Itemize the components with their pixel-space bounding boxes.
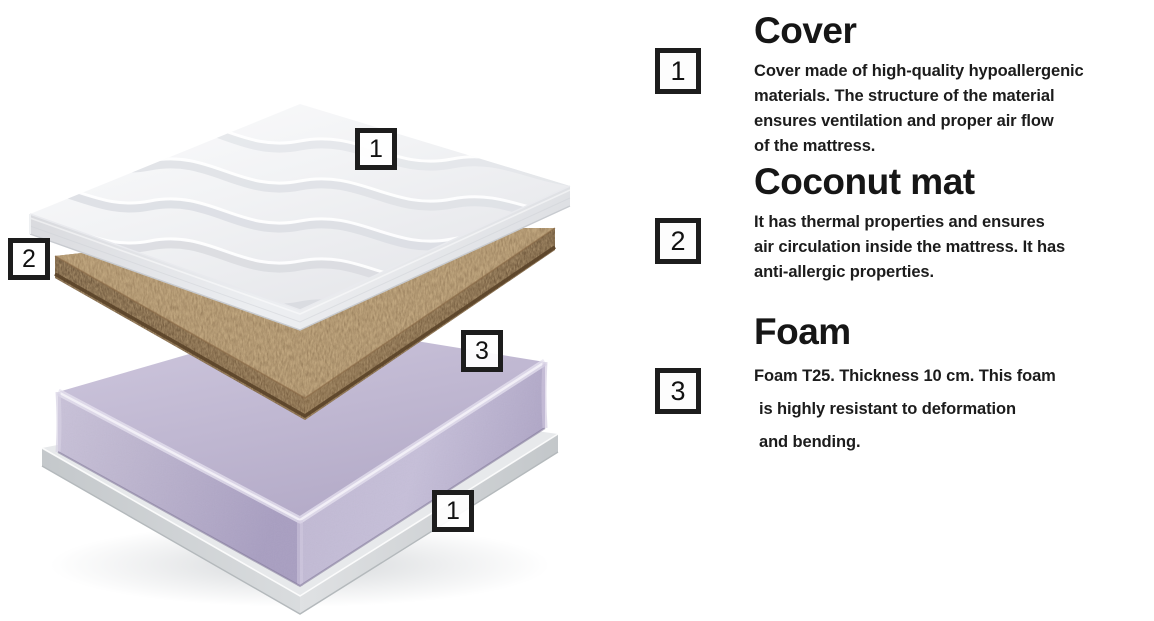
legend-desc-line: ensures ventilation and proper air flow [754, 109, 1146, 134]
mattress-layers-svg [0, 0, 640, 621]
legend-item-foam: 3 Foam Foam T25. Thickness 10 cm. This f… [655, 313, 1154, 459]
legend-description-cover: Cover made of high-quality hypoallergeni… [754, 59, 1146, 159]
legend-badge-2: 2 [655, 218, 701, 264]
legend-badge-1: 1 [655, 48, 701, 94]
legend-item-coconut-mat: 2 Coconut mat It has thermal properties … [655, 163, 1154, 285]
legend-title-cover: Cover [754, 12, 1146, 51]
legend-item-cover: 1 Cover Cover made of high-quality hypoa… [655, 12, 1154, 159]
layer-legend: 1 Cover Cover made of high-quality hypoa… [655, 0, 1154, 621]
legend-desc-line: It has thermal properties and ensures [754, 210, 1146, 235]
illustration-badge-foam: 3 [461, 330, 503, 372]
illustration-badge-cover: 1 [355, 128, 397, 170]
legend-desc-line: of the mattress. [754, 134, 1146, 159]
legend-desc-line: air circulation inside the mattress. It … [754, 235, 1146, 260]
legend-desc-line: anti-allergic properties. [754, 260, 1146, 285]
legend-title-foam: Foam [754, 313, 1146, 352]
legend-description-foam: Foam T25. Thickness 10 cm. This foam is … [754, 360, 1146, 459]
legend-desc-line: is highly resistant to deformation [754, 393, 1146, 426]
legend-text-cover: Cover Cover made of high-quality hypoall… [754, 12, 1146, 159]
legend-badge-3: 3 [655, 368, 701, 414]
legend-text-foam: Foam Foam T25. Thickness 10 cm. This foa… [754, 313, 1146, 459]
illustration-badge-base-cover: 1 [432, 490, 474, 532]
legend-desc-line: Foam T25. Thickness 10 cm. This foam [754, 360, 1146, 393]
legend-desc-line: Cover made of high-quality hypoallergeni… [754, 59, 1146, 84]
legend-description-coconut-mat: It has thermal properties and ensures ai… [754, 210, 1146, 285]
legend-text-coconut-mat: Coconut mat It has thermal properties an… [754, 163, 1146, 285]
mattress-exploded-illustration: 1 2 3 1 [0, 0, 640, 621]
legend-desc-line: materials. The structure of the material [754, 84, 1146, 109]
illustration-badge-coconut-mat: 2 [8, 238, 50, 280]
legend-title-coconut-mat: Coconut mat [754, 163, 1146, 202]
legend-desc-line: and bending. [754, 426, 1146, 459]
